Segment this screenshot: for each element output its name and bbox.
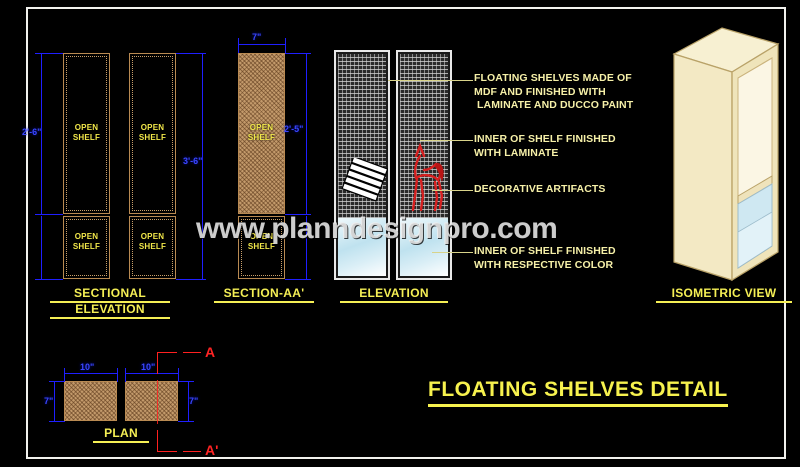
dimension-extension-line [176, 53, 206, 54]
dimension-line-vertical [306, 53, 307, 214]
dimension-extension-line [35, 214, 63, 215]
dimension-extension-line [49, 381, 65, 382]
shelf-label-line2: SHELF [248, 133, 275, 142]
shelf-label: OPEN SHELF [63, 123, 110, 143]
dimension-line-horizontal [125, 373, 178, 374]
dimension-line-horizontal [238, 44, 285, 45]
shelf-label-line2: SHELF [139, 242, 166, 251]
leader-line [420, 140, 473, 141]
shelf-label-line1: OPEN [250, 123, 273, 132]
dimension-label-7-left: 7" [44, 396, 53, 406]
plan-box-right [125, 381, 178, 421]
books-artifact-icon [340, 158, 388, 216]
section-marker-a: A [205, 344, 215, 360]
page-title: FLOATING SHELVES DETAIL [428, 378, 728, 407]
view-title-plan: PLAN [93, 426, 149, 443]
dimension-line-horizontal [64, 373, 117, 374]
dimension-label-2-6: 2'-6" [22, 127, 41, 137]
dimension-extension-line [35, 279, 63, 280]
dimension-label-7-right: 7" [189, 396, 198, 406]
section-cut-line [157, 451, 177, 452]
note-line: INNER OF SHELF FINISHED [474, 245, 616, 257]
dimension-label-2-5: 2'-5" [284, 124, 303, 134]
leader-line [432, 190, 473, 191]
shelf-label: OPEN SHELF [129, 123, 176, 143]
shelf-label: OPEN SHELF [129, 232, 176, 252]
shelf-label: OPEN SHELF [63, 232, 110, 252]
note-line: FLOATING SHELVES MADE OF [474, 72, 632, 84]
shelf-label-line2: SHELF [73, 133, 100, 142]
plan-box-left [64, 381, 117, 421]
shelf-label: OPEN SHELF [238, 123, 285, 143]
dimension-extension-line [117, 368, 118, 382]
note-line: INNER OF SHELF FINISHED [474, 133, 616, 145]
dimension-extension-line [178, 421, 194, 422]
right-margin-bar [786, 0, 800, 467]
shelf-label-line2: SHELF [73, 242, 100, 251]
dimension-line-vertical [54, 381, 55, 421]
section-cut-line [157, 430, 158, 452]
view-title-isometric: ISOMETRIC VIEW [656, 286, 792, 303]
dimension-extension-line [176, 279, 206, 280]
dimension-label-10-right: 10" [141, 362, 155, 372]
section-marker-a-prime: A' [205, 442, 218, 458]
section-cut-line [157, 352, 177, 353]
note-line: WITH RESPECTIVE COLOR [474, 259, 613, 271]
view-title-sectional-line2: ELEVATION [50, 302, 170, 319]
dimension-extension-line [35, 53, 63, 54]
dimension-extension-line [49, 421, 65, 422]
view-title-section-aa: SECTION-AA' [214, 286, 314, 303]
section-cut-line-through [157, 380, 158, 424]
shelf-label-line1: OPEN [75, 232, 98, 241]
horse-artifact-icon [406, 140, 448, 214]
note-line: WITH LAMINATE [474, 147, 559, 159]
isometric-cabinet-icon [660, 18, 788, 288]
note-line: LAMINATE AND DUCCO PAINT [474, 99, 633, 111]
dimension-label-7: 7" [252, 32, 261, 42]
note-inner-laminate: INNER OF SHELF FINISHED WITH LAMINATE [474, 133, 616, 160]
dimension-extension-line [178, 381, 194, 382]
dimension-line-vertical [41, 216, 42, 279]
dimension-extension-line [178, 368, 179, 382]
dimension-extension-line [285, 279, 311, 280]
note-line: DECORATIVE ARTIFACTS [474, 183, 606, 195]
section-cut-line [157, 352, 158, 374]
shelf-label-line2: SHELF [139, 133, 166, 142]
dimension-extension-line [285, 53, 311, 54]
shelf-label-line1: OPEN [141, 123, 164, 132]
dimension-extension-line [64, 368, 65, 382]
view-title-elevation: ELEVATION [340, 286, 448, 303]
view-title-sectional: SECTIONAL [50, 286, 170, 303]
dimension-label-3-6: 3'-6" [183, 156, 202, 166]
dimension-extension-line [285, 38, 286, 53]
dimension-label-10-left: 10" [80, 362, 94, 372]
watermark: www.planndesignpro.com [196, 212, 616, 246]
note-line: MDF AND FINISHED WITH [474, 86, 606, 98]
section-cut-line-dash [183, 451, 201, 452]
section-cut-line-dash [183, 352, 201, 353]
view-isometric: ISOMETRIC VIEW [660, 18, 788, 288]
note-floating-shelves: FLOATING SHELVES MADE OF MDF AND FINISHE… [474, 72, 633, 113]
shelf-label-line1: OPEN [141, 232, 164, 241]
leader-line [388, 80, 473, 81]
dimension-extension-line [238, 38, 239, 53]
drawing-sheet: OPEN SHELF OPEN SHELF OPEN SHELF OPEN SH… [0, 0, 800, 467]
note-inner-color: INNER OF SHELF FINISHED WITH RESPECTIVE … [474, 245, 616, 272]
left-margin-bar [0, 0, 26, 467]
shelf-label-line1: OPEN [75, 123, 98, 132]
dimension-extension-line [125, 368, 126, 382]
note-decorative-artifacts: DECORATIVE ARTIFACTS [474, 183, 606, 197]
leader-line [432, 252, 473, 253]
